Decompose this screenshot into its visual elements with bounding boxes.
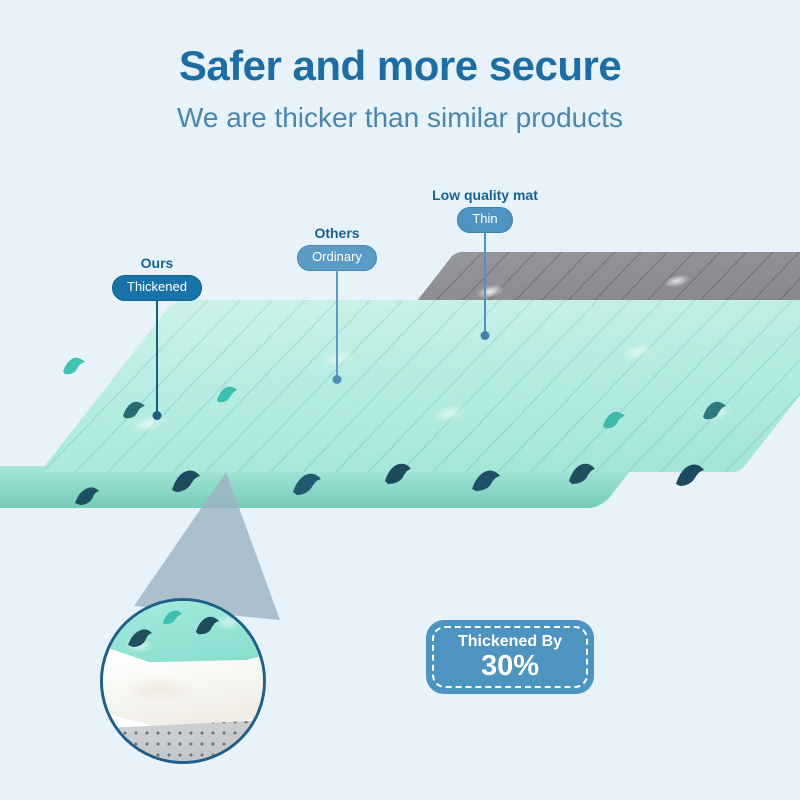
dinosaur-motif-icon <box>125 627 155 649</box>
dinosaur-motif-icon <box>72 485 102 507</box>
callout-ours[interactable]: Ours Thickened <box>92 256 222 301</box>
dinosaur-motif-icon <box>120 400 146 419</box>
dinosaur-motif-icon <box>193 615 221 636</box>
callout-low-quality-badge[interactable]: Thin <box>457 207 512 232</box>
thickness-badge-value: 30% <box>481 651 539 681</box>
thickness-badge: Thickened By 30% <box>426 620 594 694</box>
dinosaur-motif-icon <box>468 468 502 493</box>
dinosaur-motif-icon <box>161 609 183 625</box>
page-title: Safer and more secure <box>0 44 800 88</box>
dinosaur-motif-icon <box>382 462 412 485</box>
dinosaur-motif-icon <box>566 462 596 485</box>
page-subtitle: We are thicker than similar products <box>0 103 800 134</box>
inset-layer-bottom-base <box>100 719 266 764</box>
callout-ours-badge[interactable]: Thickened <box>112 275 202 300</box>
dinosaur-motif-icon <box>700 400 728 420</box>
layer-closeup-inset <box>100 598 266 764</box>
callout-low-quality[interactable]: Low quality mat Thin <box>400 188 570 233</box>
infographic-canvas: Ours Thickened Others Ordinary Low quali… <box>0 0 800 800</box>
leader-line-others <box>332 270 342 380</box>
callout-others[interactable]: Others Ordinary <box>272 226 402 271</box>
thickness-badge-label: Thickened By <box>458 633 562 651</box>
callout-ours-caption: Ours <box>92 256 222 271</box>
callout-others-caption: Others <box>272 226 402 241</box>
dinosaur-motif-icon <box>214 385 238 403</box>
leader-line-low-quality <box>480 232 490 336</box>
dinosaur-motif-icon <box>60 356 86 375</box>
callout-others-badge[interactable]: Ordinary <box>297 245 377 270</box>
callout-low-quality-caption: Low quality mat <box>400 188 570 203</box>
leader-line-ours <box>152 300 162 416</box>
dinosaur-motif-icon <box>672 462 706 488</box>
dinosaur-motif-icon <box>600 410 626 429</box>
